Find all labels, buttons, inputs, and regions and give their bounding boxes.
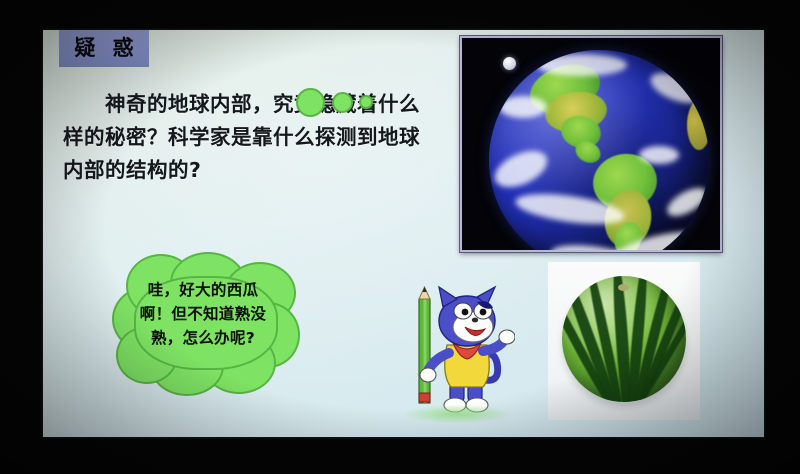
earth-sphere — [489, 50, 709, 252]
watermelon-photo — [548, 262, 700, 420]
mascot-ground-shadow — [405, 405, 509, 423]
slide-title-badge: 疑 惑 — [59, 30, 149, 67]
cloud-shape — [489, 144, 552, 195]
speech-bubble: 哇，好大的西瓜啊！但不知道熟没熟，怎么办呢? — [110, 252, 296, 392]
melon-stem — [618, 284, 629, 291]
cat-illustration — [395, 283, 515, 425]
speech-trail-dot — [296, 88, 325, 117]
cloud-shape — [639, 146, 679, 164]
moon-icon — [503, 57, 516, 70]
cloud-shape — [663, 182, 709, 221]
presentation-slide: 疑 惑 神奇的地球内部，究竟隐藏着什么样的秘密？科学家是靠什么探测到地球内部的结… — [43, 30, 764, 437]
continent-shape — [687, 100, 709, 150]
cloud-shape — [499, 96, 547, 118]
cartoon-cat-mascot — [395, 283, 515, 425]
watermelon-sphere — [562, 276, 686, 402]
earth-globe-photo — [460, 36, 722, 252]
projector-stage: 疑 惑 神奇的地球内部，究竟隐藏着什么样的秘密？科学家是靠什么探测到地球内部的结… — [0, 0, 800, 474]
cloud-shape — [537, 54, 627, 76]
slide-body-paragraph: 神奇的地球内部，究竟隐藏着什么样的秘密？科学家是靠什么探测到地球内部的结构的? — [63, 88, 435, 187]
slide-title-text: 疑 惑 — [69, 38, 138, 59]
pencil-icon — [419, 287, 430, 403]
speech-trail-dot — [359, 95, 373, 109]
speech-bubble-text: 哇，好大的西瓜啊！但不知道熟没熟，怎么办呢? — [134, 278, 272, 350]
speech-trail-dot — [332, 92, 353, 113]
